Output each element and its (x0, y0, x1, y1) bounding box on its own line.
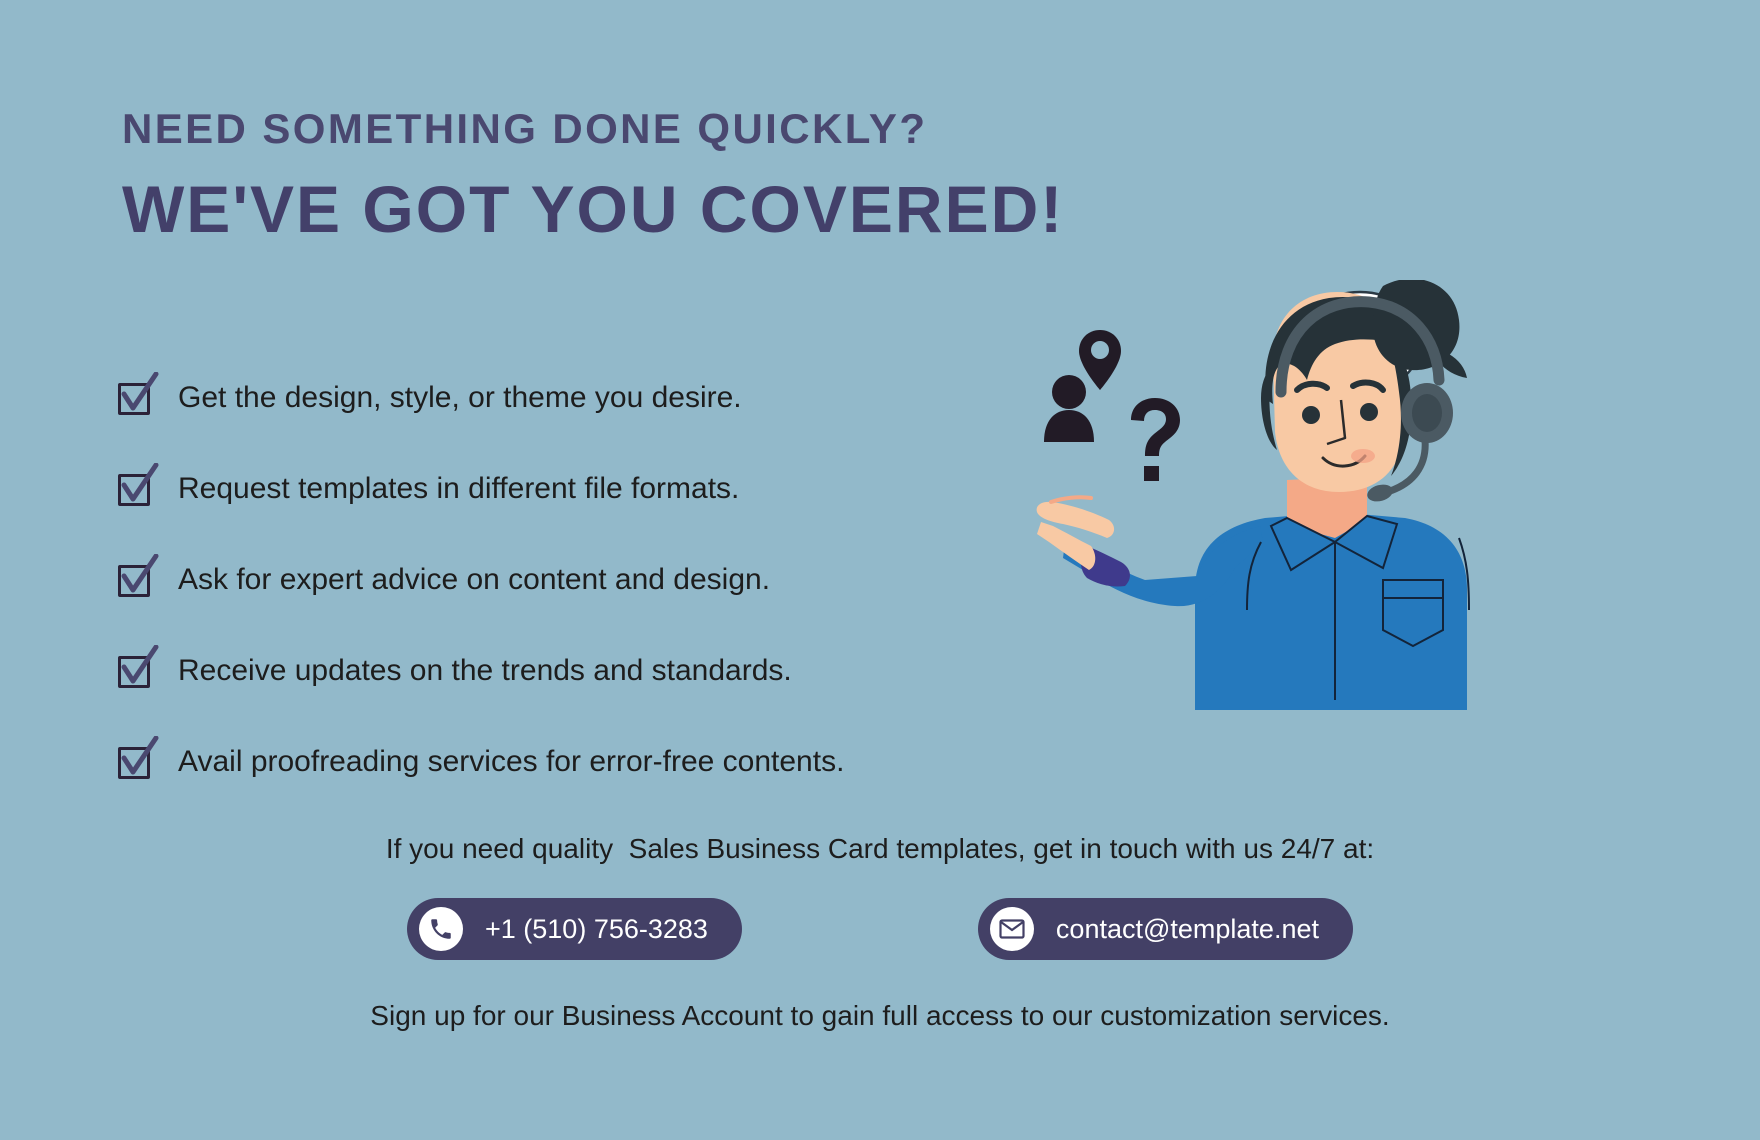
heading-block: NEED SOMETHING DONE QUICKLY? WE'VE GOT Y… (122, 108, 1064, 242)
eyebrow-heading: NEED SOMETHING DONE QUICKLY? (122, 108, 1064, 150)
email-address: contact@template.net (1056, 914, 1319, 945)
list-item: Ask for expert advice on content and des… (118, 534, 1038, 625)
checkbox-checked-icon (118, 471, 154, 507)
signup-footer-text: Sign up for our Business Account to gain… (0, 1000, 1760, 1032)
email-button[interactable]: contact@template.net (978, 898, 1353, 960)
phone-button[interactable]: +1 (510) 756-3283 (407, 898, 742, 960)
checkbox-checked-icon (118, 744, 154, 780)
checkbox-checked-icon (118, 653, 154, 689)
list-item-label: Avail proofreading services for error-fr… (178, 745, 844, 778)
list-item: Get the design, style, or theme you desi… (118, 352, 1038, 443)
list-item: Avail proofreading services for error-fr… (118, 716, 1038, 807)
list-item: Receive updates on the trends and standa… (118, 625, 1038, 716)
contact-intro-text: If you need quality Sales Business Card … (0, 833, 1760, 865)
list-item-label: Request templates in different file form… (178, 472, 739, 505)
list-item-label: Ask for expert advice on content and des… (178, 563, 770, 596)
phone-icon (419, 907, 463, 951)
page-title: WE'VE GOT YOU COVERED! (122, 176, 1064, 242)
checkbox-checked-icon (118, 562, 154, 598)
contact-buttons: +1 (510) 756-3283 contact@template.net (0, 898, 1760, 960)
benefits-checklist: Get the design, style, or theme you desi… (118, 352, 1038, 807)
list-item: Request templates in different file form… (118, 443, 1038, 534)
phone-number: +1 (510) 756-3283 (485, 914, 708, 945)
poster-canvas: NEED SOMETHING DONE QUICKLY? WE'VE GOT Y… (0, 0, 1760, 1140)
person-icon (1044, 375, 1094, 442)
question-mark-icon (1131, 398, 1180, 481)
list-item-label: Receive updates on the trends and standa… (178, 654, 792, 687)
location-pin-icon (1079, 330, 1121, 390)
customer-support-agent-illustration (1035, 280, 1695, 730)
checkbox-checked-icon (118, 380, 154, 416)
envelope-icon (990, 907, 1034, 951)
list-item-label: Get the design, style, or theme you desi… (178, 381, 742, 414)
